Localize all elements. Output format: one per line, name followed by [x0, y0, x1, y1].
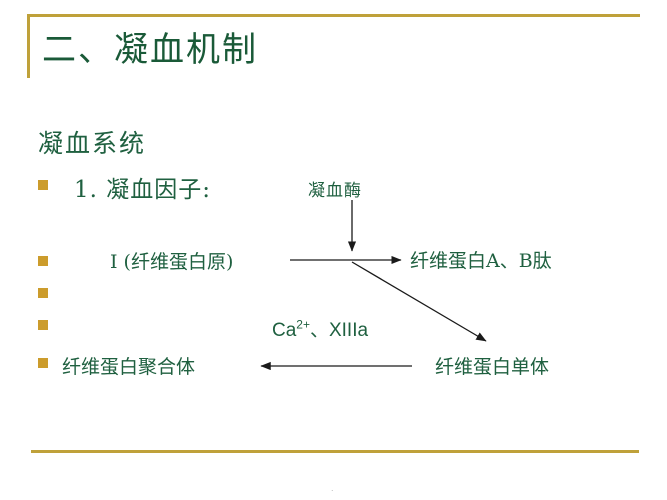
coagulation-factor-heading: 1. 凝血因子:	[74, 170, 211, 204]
page-title: 二、凝血机制	[42, 22, 258, 71]
label-cofactors: Ca2+、XIIIa	[272, 315, 368, 342]
label-fibrinopeptide-ab: 纤维蛋白A、B肽	[410, 246, 552, 273]
bottom-divider-rule	[31, 450, 639, 453]
cofactor-ca-text: Ca	[272, 320, 296, 341]
slide-subtitle: 凝血系统	[38, 124, 146, 160]
bullet-marker-polymer	[38, 358, 48, 368]
coagulation-cascade-arrows	[0, 0, 667, 500]
slide-canvas: 二、凝血机制 凝血系统 1. 凝血因子: 凝血酶 I (纤维蛋白原) 纤维蛋白A…	[0, 0, 667, 500]
page-marker: .	[331, 483, 334, 493]
label-fibrin-polymer: 纤维蛋白聚合体	[62, 352, 195, 379]
bullet-marker-cofactors	[38, 320, 48, 330]
cofactor-factor13a-text: 、XIIIa	[310, 320, 368, 341]
left-accent-rule	[27, 14, 30, 78]
label-fibrin-monomer: 纤维蛋白单体	[435, 352, 549, 379]
bullet-marker-empty	[38, 288, 48, 298]
bullet-marker-fibrinogen	[38, 256, 48, 266]
arrow-to-fibrin-monomer	[352, 262, 486, 341]
top-divider-rule	[27, 14, 640, 17]
label-thrombin: 凝血酶	[308, 176, 362, 201]
cofactor-charge-superscript: 2+	[296, 318, 310, 332]
bullet-marker-factor	[38, 180, 48, 190]
label-fibrinogen: I (纤维蛋白原)	[110, 247, 233, 274]
